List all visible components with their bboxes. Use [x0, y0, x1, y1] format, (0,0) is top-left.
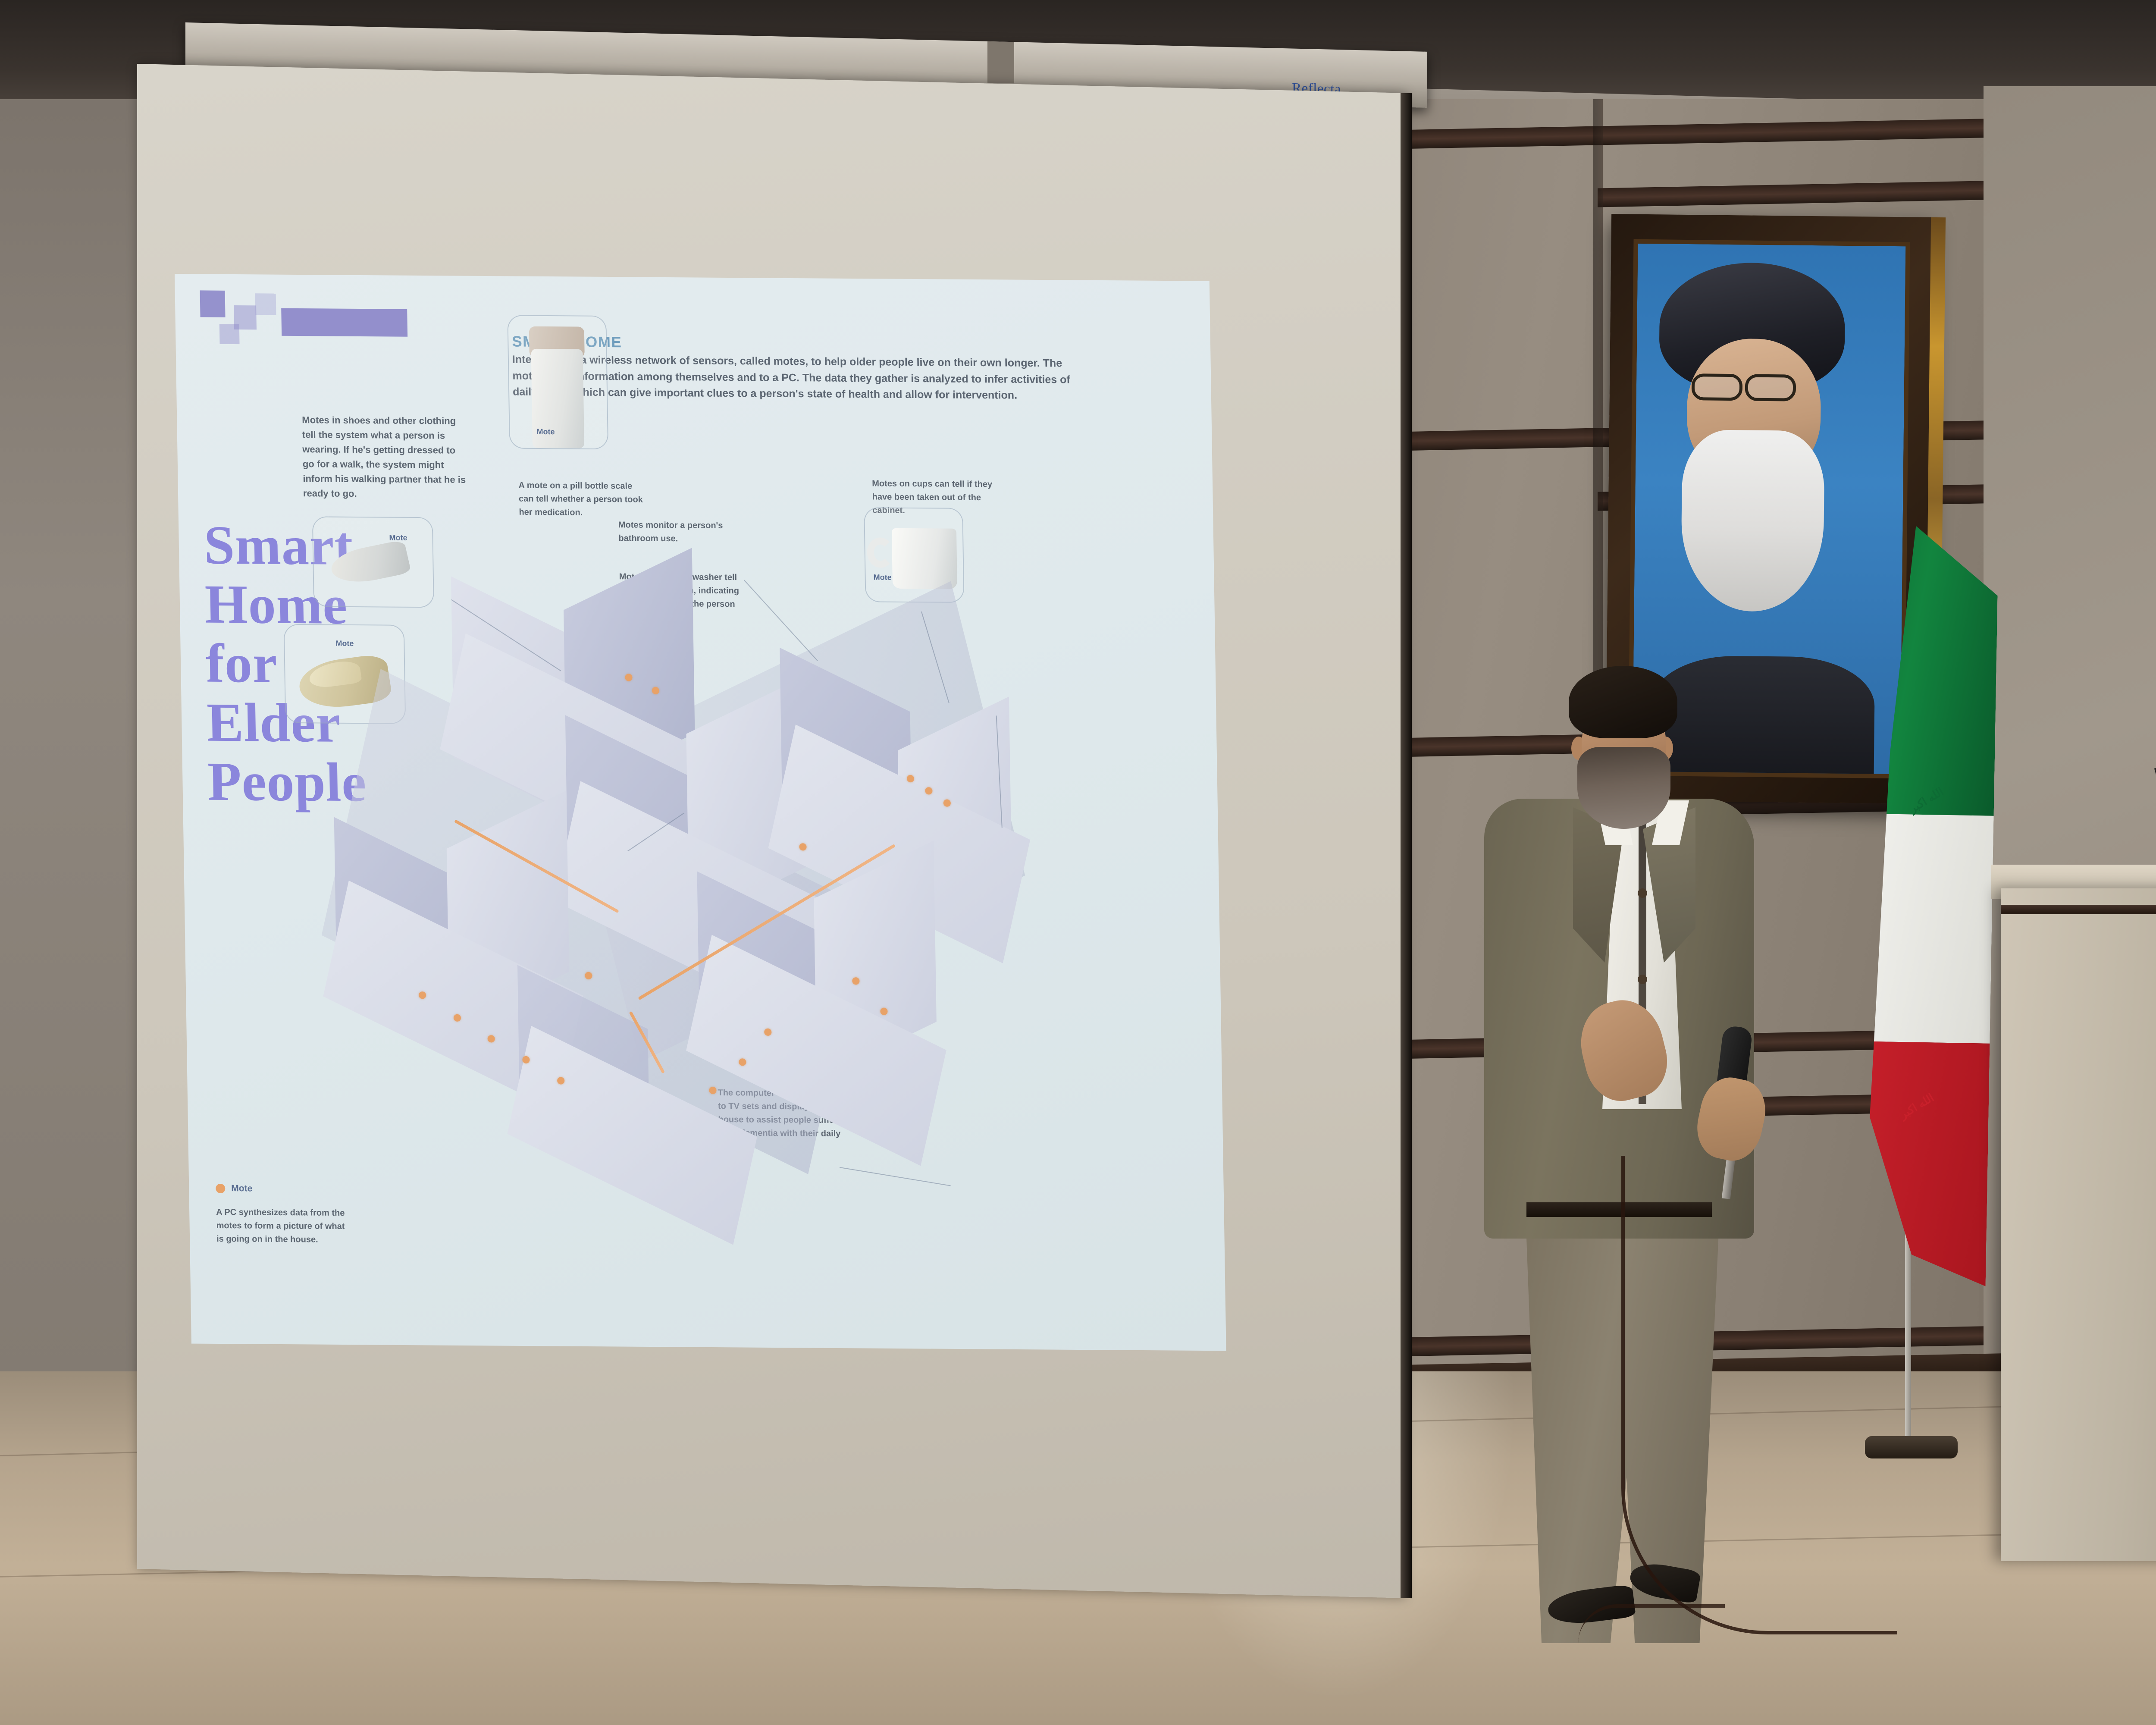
portrait-beard: [1681, 430, 1825, 612]
glasses-left-icon: [1692, 373, 1743, 401]
slide-legend: Mote: [216, 1183, 252, 1194]
presenter-shirt-button: [1638, 975, 1647, 984]
presenter-beard: [1577, 747, 1670, 829]
callout-label-shoe: Mote: [389, 533, 407, 543]
annotation-clothing: Motes in shoes and other clothing tell t…: [302, 413, 467, 502]
glasses-right-icon: [1745, 374, 1796, 401]
lectern: [2001, 888, 2156, 1561]
presenter-hair: [1569, 666, 1677, 738]
annotation-pill-bottle: A mote on a pill bottle scale can tell w…: [518, 479, 648, 520]
microphone-cable: [1621, 1156, 1897, 1634]
podium-trim-band: [2001, 905, 2156, 914]
isometric-house-diagram: [321, 546, 1091, 1259]
presentation-photo-scene: Reflecta Smart Home for Elder People SMA…: [0, 0, 2156, 1725]
microphone-cable-tail: [1578, 1604, 1725, 1665]
legend-mote-label: Mote: [231, 1183, 252, 1194]
callout-label-pill-bottle: Mote: [536, 427, 555, 436]
annotation-bathroom: Motes monitor a person's bathroom use.: [618, 518, 744, 546]
projected-slide: Smart Home for Elder People SMART HOME I…: [175, 274, 1226, 1351]
legend-mote-dot-icon: [216, 1184, 225, 1193]
slide-logo-mark: [200, 290, 408, 343]
presenter-shirt-button: [1638, 888, 1647, 898]
callout-pill-bottle: Mote: [507, 315, 608, 449]
